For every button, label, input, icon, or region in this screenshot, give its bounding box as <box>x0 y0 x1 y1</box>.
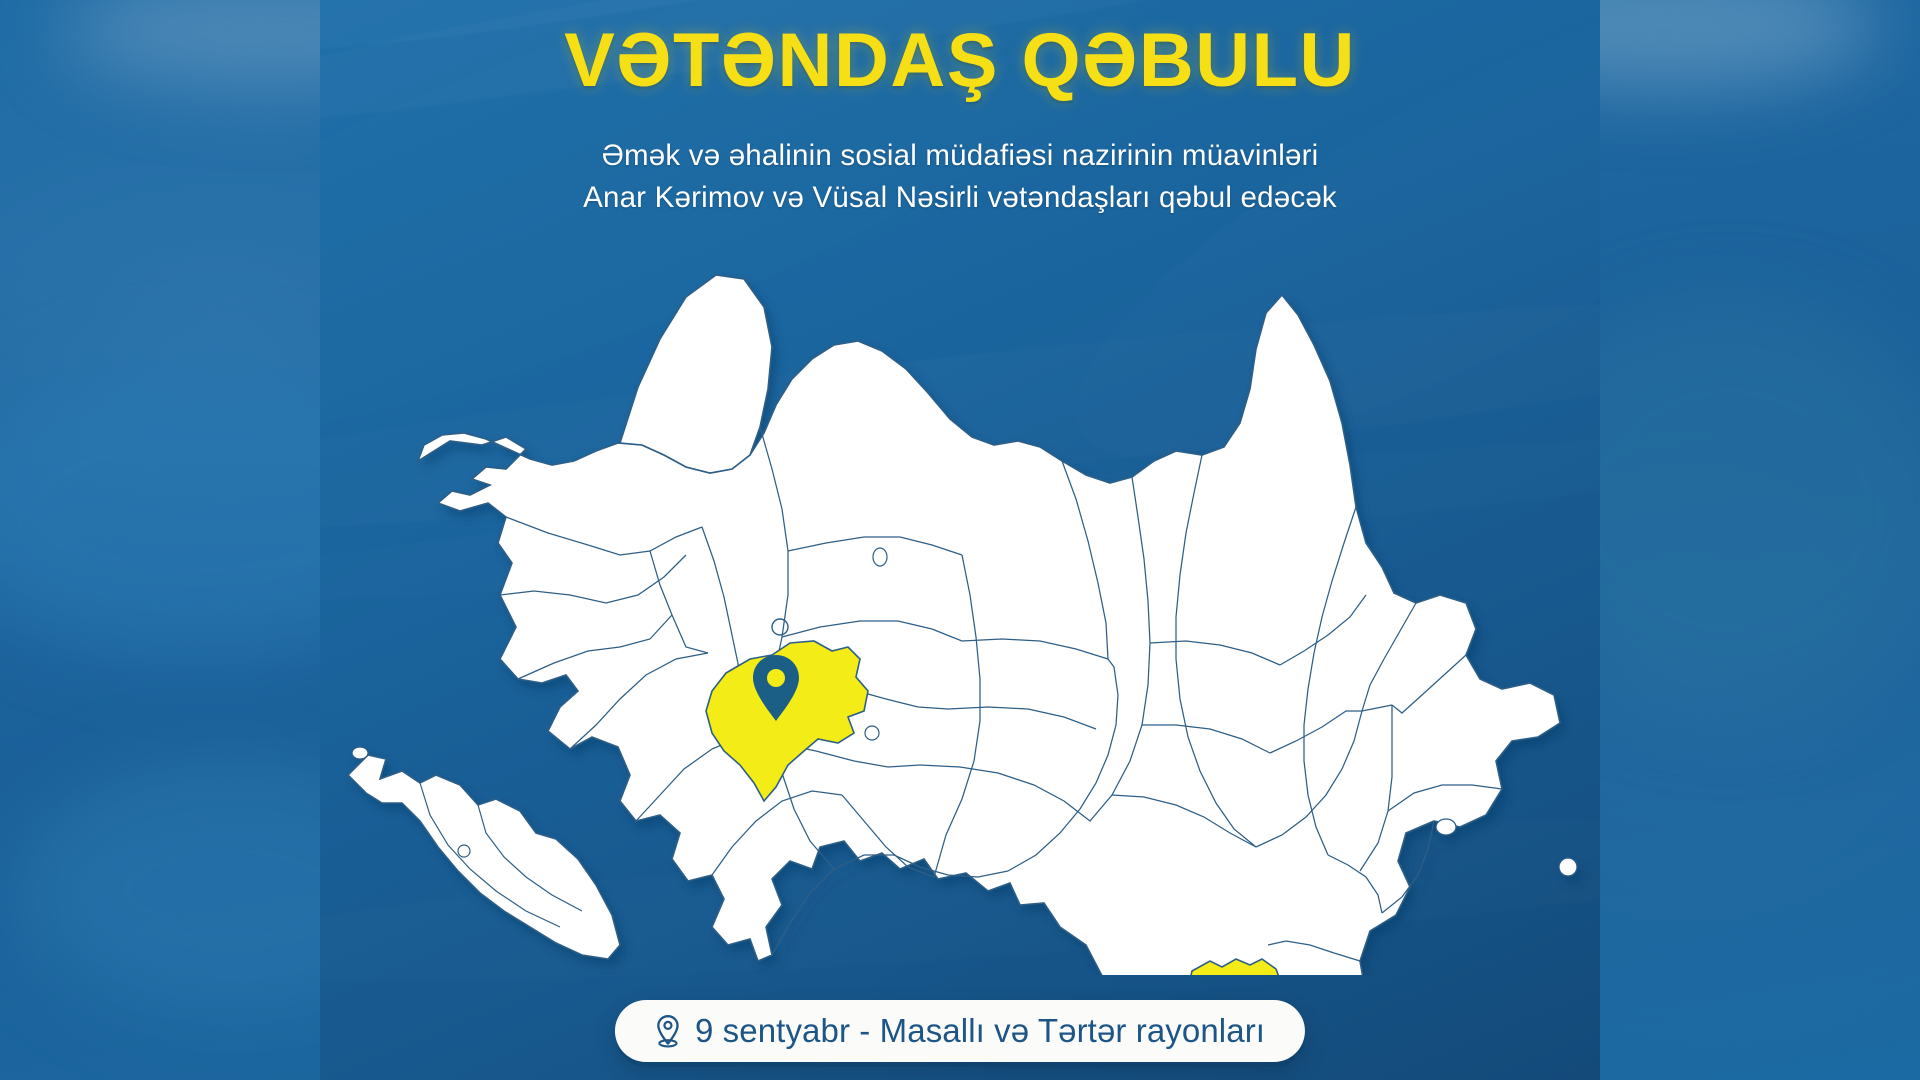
location-pin-icon <box>655 1014 681 1048</box>
pin-inner-dot <box>767 669 785 687</box>
banner-text: 9 sentyabr - Masallı və Tərtər rayonları <box>695 1012 1265 1050</box>
mainland-shape <box>418 295 1560 975</box>
map-landmass-group <box>348 275 1577 975</box>
nakhchivan-exclave <box>348 755 620 959</box>
subtitle-line-2: Anar Kərimov və Vüsal Nəsirli vətəndaşla… <box>320 177 1600 219</box>
northwest-wedge <box>620 275 772 473</box>
subtitle-line-1: Əmək və əhalinin sosial müdafiəsi naziri… <box>320 135 1600 177</box>
island-shape <box>352 747 368 759</box>
azerbaijan-map <box>320 255 1600 975</box>
subtitle-block: Əmək və əhalinin sosial müdafiəsi naziri… <box>320 135 1600 219</box>
poster-panel: VƏTƏNDAŞ QƏBULU Əmək və əhalinin sosial … <box>320 0 1600 1080</box>
island-shape <box>1559 858 1577 876</box>
island-shape <box>1436 819 1456 835</box>
map-svg <box>320 255 1600 975</box>
page-title: VƏTƏNDAŞ QƏBULU <box>320 22 1600 100</box>
date-location-banner[interactable]: 9 sentyabr - Masallı və Tərtər rayonları <box>615 1000 1305 1062</box>
